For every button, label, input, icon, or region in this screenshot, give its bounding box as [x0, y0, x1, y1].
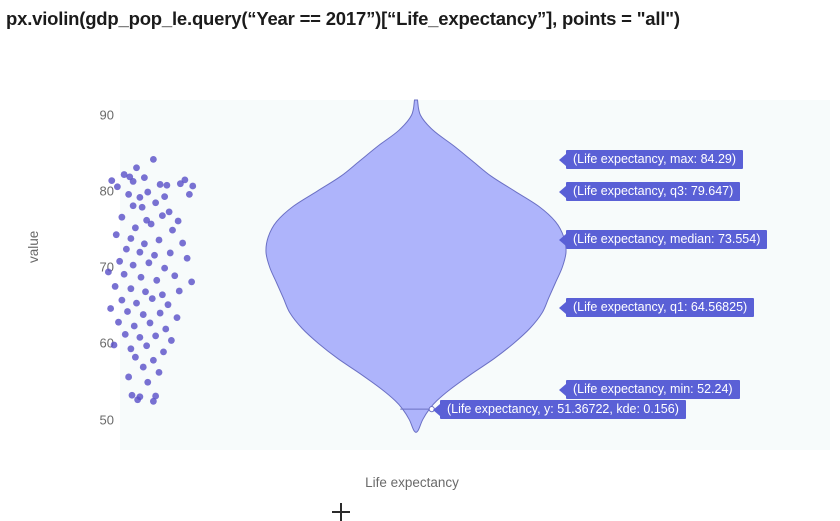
tooltip-max: (Life expectancy, max: 84.29)	[566, 150, 743, 169]
x-axis-title: Life expectancy	[0, 475, 840, 490]
x-axis-title-label: Life expectancy	[365, 475, 459, 490]
scatter-point[interactable]	[122, 331, 129, 338]
scatter-point[interactable]	[186, 191, 193, 198]
scatter-point[interactable]	[184, 255, 191, 262]
scatter-point[interactable]	[152, 332, 159, 339]
scatter-point[interactable]	[105, 269, 112, 276]
scatter-point[interactable]	[171, 272, 178, 279]
scatter-point[interactable]	[133, 164, 140, 171]
scatter-point[interactable]	[140, 311, 147, 318]
scatter-point[interactable]	[179, 240, 186, 247]
scatter-point[interactable]	[129, 392, 136, 399]
scatter-point[interactable]	[139, 204, 146, 211]
scatter-point[interactable]	[134, 396, 141, 403]
scatter-point[interactable]	[112, 283, 119, 290]
scatter-point[interactable]	[163, 182, 170, 189]
tooltip-q1: (Life expectancy, q1: 64.56825)	[566, 298, 754, 317]
scatter-point[interactable]	[156, 369, 163, 376]
scatter-point[interactable]	[165, 301, 172, 308]
scatter-point[interactable]	[161, 193, 168, 200]
scatter-point[interactable]	[136, 249, 143, 256]
scatter-point[interactable]	[153, 277, 160, 284]
scatter-point[interactable]	[176, 288, 183, 295]
tooltip-min: (Life expectancy, min: 52.24)	[566, 380, 740, 399]
scatter-point[interactable]	[174, 314, 181, 321]
scatter-point[interactable]	[168, 337, 175, 344]
scatter-point[interactable]	[114, 183, 121, 190]
scatter-point[interactable]	[141, 240, 148, 247]
scatter-point[interactable]	[124, 308, 131, 315]
scatter-point[interactable]	[130, 262, 137, 269]
scatter-point[interactable]	[140, 364, 147, 371]
scatter-point[interactable]	[150, 398, 157, 405]
violin-plot-figure: 9080706050 value (Life expectancy, max: …	[0, 70, 840, 492]
violin-shape[interactable]	[266, 100, 566, 432]
scatter-point[interactable]	[118, 214, 125, 221]
plot-svg-layer	[0, 70, 840, 492]
scatter-point[interactable]	[125, 191, 132, 198]
scatter-point[interactable]	[150, 156, 157, 163]
scatter-point[interactable]	[144, 379, 151, 386]
scatter-point[interactable]	[160, 348, 167, 355]
scatter-point[interactable]	[123, 246, 130, 253]
scatter-point[interactable]	[111, 342, 118, 349]
tooltip-kde: (Life expectancy, y: 51.36722, kde: 0.15…	[440, 400, 686, 419]
scatter-point[interactable]	[115, 319, 122, 326]
scatter-point[interactable]	[136, 334, 143, 341]
scatter-point[interactable]	[127, 235, 134, 242]
scatter-point[interactable]	[148, 221, 155, 228]
code-caption: px.violin(gdp_pop_le.query(“Year == 2017…	[6, 4, 834, 33]
scatter-point[interactable]	[189, 183, 196, 190]
scatter-point[interactable]	[107, 305, 114, 312]
scatter-point[interactable]	[108, 177, 115, 184]
scatter-point[interactable]	[149, 295, 156, 302]
tooltip-median: (Life expectancy, median: 73.554)	[566, 230, 767, 249]
scatter-point[interactable]	[188, 278, 195, 285]
scatter-point[interactable]	[152, 199, 159, 206]
scatter-point[interactable]	[150, 357, 157, 364]
scatter-point[interactable]	[138, 274, 145, 281]
violin-body[interactable]	[266, 100, 566, 432]
scatter-point[interactable]	[136, 194, 143, 201]
scatter-point[interactable]	[142, 288, 149, 295]
scatter-point[interactable]	[125, 374, 132, 381]
scatter-point[interactable]	[156, 237, 163, 244]
scatter-point[interactable]	[147, 320, 154, 327]
scatter-point[interactable]	[130, 202, 137, 209]
scatter-points[interactable]	[105, 156, 196, 405]
scatter-point[interactable]	[162, 326, 169, 333]
scatter-point[interactable]	[121, 271, 128, 278]
scatter-point[interactable]	[159, 212, 166, 219]
scatter-point[interactable]	[113, 231, 120, 238]
scatter-point[interactable]	[157, 310, 164, 317]
scatter-point[interactable]	[181, 176, 188, 183]
scatter-point[interactable]	[175, 218, 182, 225]
scatter-point[interactable]	[151, 252, 158, 259]
scatter-point[interactable]	[132, 354, 139, 361]
scatter-point[interactable]	[159, 291, 166, 298]
tooltip-q3: (Life expectancy, q3: 79.647)	[566, 182, 740, 201]
scatter-point[interactable]	[144, 189, 151, 196]
scatter-point[interactable]	[127, 285, 134, 292]
scatter-point[interactable]	[143, 342, 150, 349]
scatter-point[interactable]	[118, 297, 125, 304]
scatter-point[interactable]	[167, 250, 174, 257]
scatter-point[interactable]	[166, 208, 173, 215]
scatter-point[interactable]	[145, 259, 152, 266]
scatter-point[interactable]	[127, 345, 134, 352]
scatter-point[interactable]	[161, 265, 168, 272]
scatter-point[interactable]	[169, 227, 176, 234]
scatter-point[interactable]	[116, 258, 123, 265]
scatter-point[interactable]	[157, 181, 164, 188]
scatter-point[interactable]	[133, 300, 140, 307]
scatter-point[interactable]	[132, 224, 139, 231]
scatter-point[interactable]	[130, 178, 137, 185]
scatter-point[interactable]	[131, 323, 138, 330]
crosshair-cursor-icon	[332, 503, 350, 521]
scatter-point[interactable]	[141, 174, 148, 181]
